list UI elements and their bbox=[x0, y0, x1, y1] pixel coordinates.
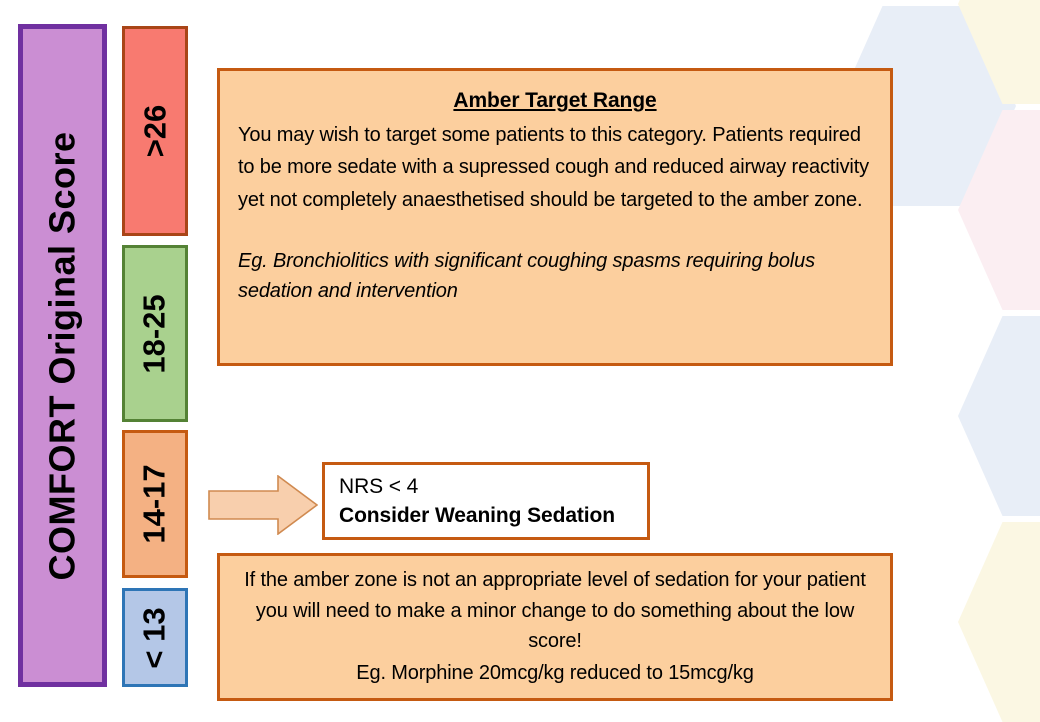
score-band-under-13[interactable]: < 13 bbox=[122, 588, 188, 687]
score-band-label: 14-17 bbox=[137, 464, 173, 543]
low-score-guidance-panel: If the amber zone is not an appropriate … bbox=[217, 553, 893, 701]
hexagon-pink-mid bbox=[958, 110, 1040, 310]
score-band-18-25[interactable]: 18-25 bbox=[122, 245, 188, 422]
nrs-action-text: Consider Weaning Sedation bbox=[339, 502, 633, 531]
right-arrow-icon bbox=[208, 475, 318, 535]
score-band-label: < 13 bbox=[137, 607, 173, 668]
score-band-label: >26 bbox=[137, 105, 173, 158]
panel-example-text: Eg. Bronchiolitics with significant coug… bbox=[238, 246, 872, 306]
amber-target-range-panel: Amber Target Range You may wish to targe… bbox=[217, 68, 893, 366]
hexagon-yellow-bottom bbox=[958, 522, 1040, 722]
nrs-weaning-callout: NRS < 4 Consider Weaning Sedation bbox=[322, 462, 650, 540]
nrs-value-text: NRS < 4 bbox=[339, 473, 633, 502]
hexagon-yellow-top bbox=[958, 0, 1040, 104]
low-score-example-text: Eg. Morphine 20mcg/kg reduced to 15mcg/k… bbox=[242, 658, 868, 688]
low-score-body-text: If the amber zone is not an appropriate … bbox=[242, 565, 868, 656]
axis-title-text: COMFORT Original Score bbox=[42, 131, 84, 580]
panel-heading: Amber Target Range bbox=[238, 89, 872, 113]
score-band-label: 18-25 bbox=[137, 294, 173, 373]
hexagon-blue-mid bbox=[958, 316, 1040, 516]
slide-canvas: COMFORT Original Score >26 18-25 14-17 <… bbox=[0, 0, 1040, 722]
score-band-above-26[interactable]: >26 bbox=[122, 26, 188, 236]
score-band-14-17[interactable]: 14-17 bbox=[122, 430, 188, 578]
comfort-score-axis-title: COMFORT Original Score bbox=[18, 24, 107, 687]
panel-body-text: You may wish to target some patients to … bbox=[238, 119, 872, 216]
